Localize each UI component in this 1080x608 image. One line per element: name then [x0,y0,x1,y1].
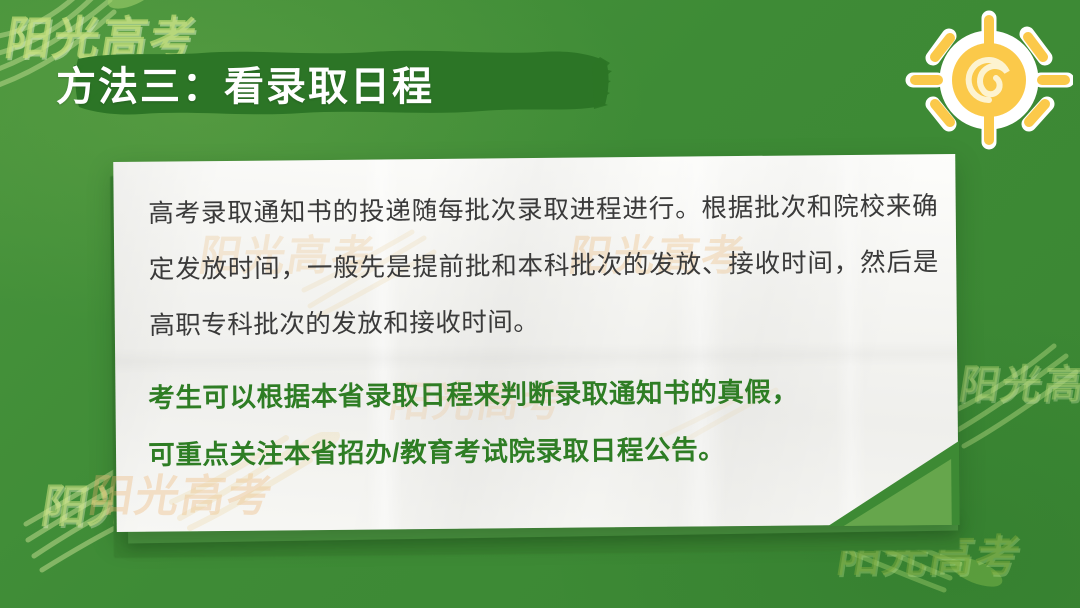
slide-canvas: 阳光高考 阳光高考 阳光高考 阳光高考 [0,0,1080,608]
body-paragraph: 高考录取通知书的投递随每批次录取进程进行。根据批次和院校来确定发放时间，一般先是… [148,178,940,354]
emphasis-line-2: 可重点关注本省招办/教育考试院录取日程公告。 [148,419,939,484]
card-body: 高考录取通知书的投递随每批次录取进程进行。根据批次和院校来确定发放时间，一般先是… [148,186,938,484]
page-title: 方法三：看录取日程 [56,50,434,116]
emphasis-line-1: 考生可以根据本省录取日程来判断录取通知书的真假， [148,362,939,427]
